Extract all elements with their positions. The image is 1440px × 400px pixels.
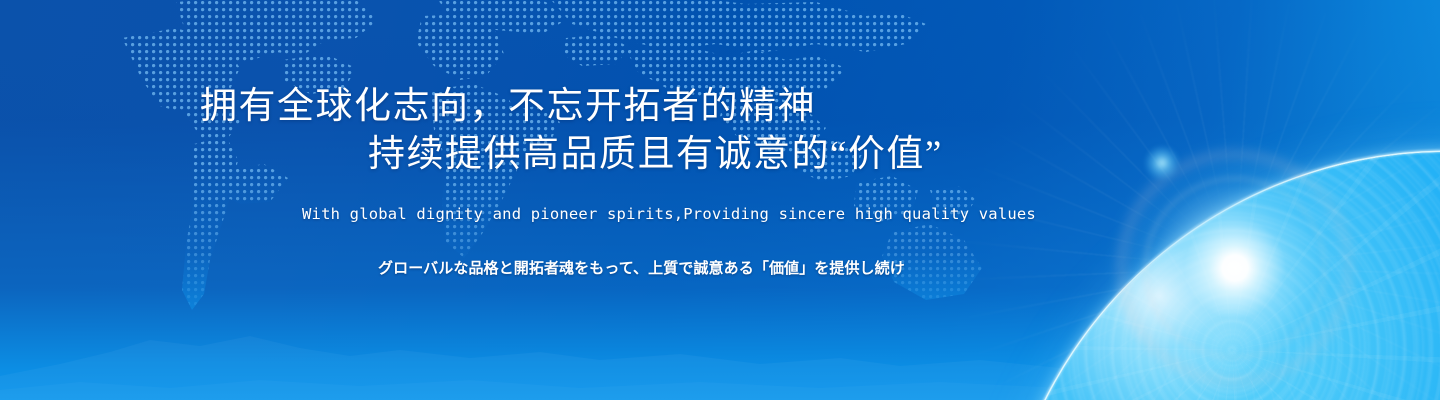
headline-chinese-line-1: 拥有全球化志向，不忘开拓者的精神: [200, 88, 816, 125]
hero-banner: 拥有全球化志向，不忘开拓者的精神 持续提供高品质且有诚意的“价值” With g…: [0, 0, 1440, 400]
subheadline-english: With global dignity and pioneer spirits,…: [302, 207, 1036, 223]
banner-copy: 拥有全球化志向，不忘开拓者的精神 持续提供高品质且有诚意的“价值” With g…: [0, 0, 1440, 400]
headline-chinese-line-2: 持续提供高品质且有诚意的“价值”: [368, 136, 943, 173]
subheadline-japanese: グローバルな品格と開拓者魂をもって、上質で誠意ある「価値」を提供し続け: [378, 261, 905, 276]
